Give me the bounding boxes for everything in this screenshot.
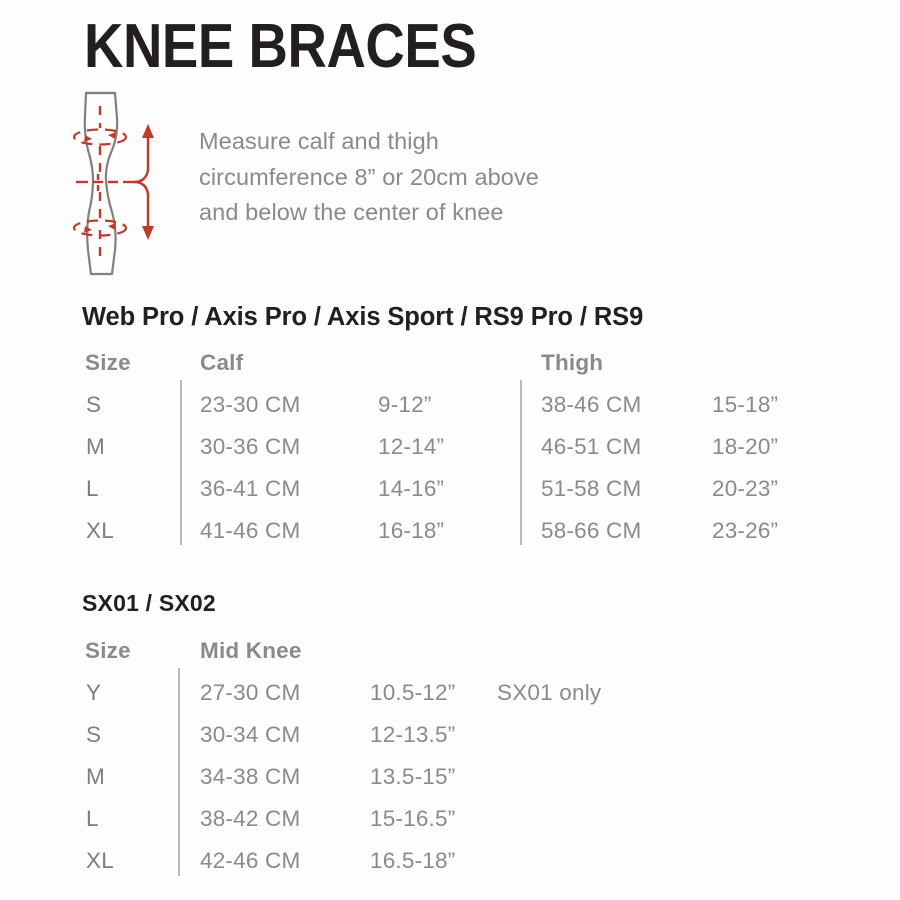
instruction-line-2: circumference 8” or 20cm above <box>199 160 649 196</box>
table-row: 30-36 CM <box>200 434 300 460</box>
column-divider-thigh <box>520 380 522 545</box>
table-row: 15-18” <box>712 392 778 418</box>
table-row: 16-18” <box>378 518 444 544</box>
column-divider-calf <box>180 380 182 545</box>
table-row-note: SX01 only <box>497 680 601 706</box>
table-row: L <box>86 806 99 832</box>
instruction-line-1: Measure calf and thigh <box>199 124 649 160</box>
table-row: 38-42 CM <box>200 806 300 832</box>
table-row: 41-46 CM <box>200 518 300 544</box>
table-2-title: SX01 / SX02 <box>82 590 216 617</box>
table-row: 10.5-12” <box>370 680 455 706</box>
table-row: XL <box>86 518 114 544</box>
measurement-offset-arrow <box>134 124 154 240</box>
table-row: 23-26” <box>712 518 778 544</box>
leg-outline-shape <box>85 93 117 274</box>
table-row: L <box>86 476 99 502</box>
table-row: 14-16” <box>378 476 444 502</box>
measurement-instructions: Measure calf and thigh circumference 8” … <box>199 124 649 231</box>
instruction-line-3: and below the center of knee <box>199 195 649 231</box>
table-row: 15-16.5” <box>370 806 455 832</box>
table-row: XL <box>86 848 114 874</box>
table-row: 38-46 CM <box>541 392 641 418</box>
table-row: 58-66 CM <box>541 518 641 544</box>
table-row: Y <box>86 680 101 706</box>
table-row: 9-12” <box>378 392 432 418</box>
table-row: 34-38 CM <box>200 764 300 790</box>
table-row: S <box>86 722 101 748</box>
table-row: S <box>86 392 101 418</box>
table-row: 16.5-18” <box>370 848 455 874</box>
table-row: 51-58 CM <box>541 476 641 502</box>
table-row: 20-23” <box>712 476 778 502</box>
table-row: 42-46 CM <box>200 848 300 874</box>
table-1-header-calf: Calf <box>200 350 243 376</box>
table-row: 30-34 CM <box>200 722 300 748</box>
table-2-header-mid-knee: Mid Knee <box>200 638 302 664</box>
column-divider-mid-knee <box>178 668 180 876</box>
table-row: M <box>86 764 105 790</box>
table-row: 36-41 CM <box>200 476 300 502</box>
table-2-header-size: Size <box>85 638 131 664</box>
table-row: 23-30 CM <box>200 392 300 418</box>
table-row: 27-30 CM <box>200 680 300 706</box>
table-row: 18-20” <box>712 434 778 460</box>
thigh-circumference-ellipse <box>74 130 126 145</box>
table-1-header-thigh: Thigh <box>541 350 603 376</box>
table-row: M <box>86 434 105 460</box>
table-row: 12-14” <box>378 434 444 460</box>
table-1-header-size: Size <box>85 350 131 376</box>
table-row: 46-51 CM <box>541 434 641 460</box>
table-row: 13.5-15” <box>370 764 455 790</box>
leg-measurement-diagram <box>72 88 190 284</box>
table-1-title: Web Pro / Axis Pro / Axis Sport / RS9 Pr… <box>82 303 643 332</box>
size-chart-page: KNEE BRACES <box>0 0 900 900</box>
table-row: 12-13.5” <box>370 722 455 748</box>
page-title: KNEE BRACES <box>84 16 476 78</box>
